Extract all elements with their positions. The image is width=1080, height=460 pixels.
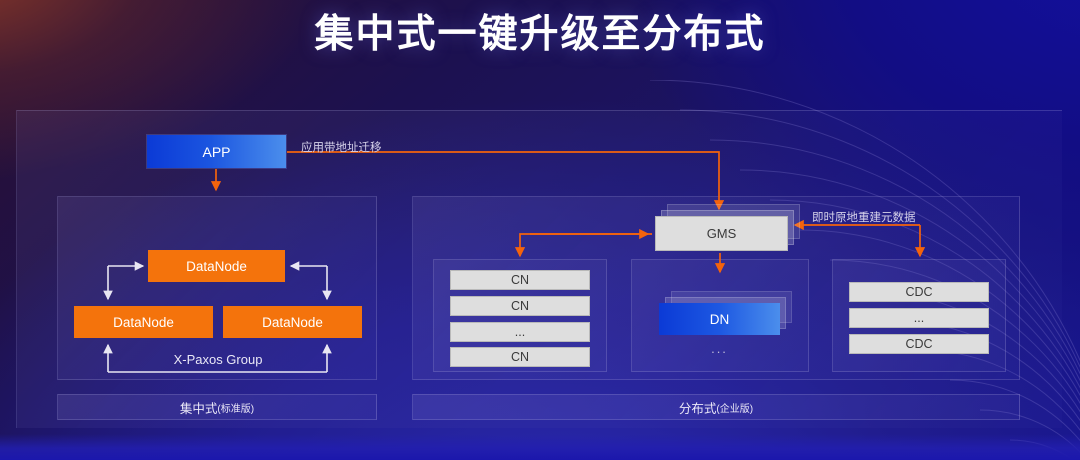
cn-box-1[interactable]: CN — [450, 270, 590, 290]
cdc-box-ellipsis: ... — [849, 308, 989, 328]
dn-box[interactable]: DN — [659, 303, 780, 335]
gms-box[interactable]: GMS — [655, 216, 788, 251]
datanode-follower-1[interactable]: DataNode — [74, 306, 213, 338]
datanode-leader[interactable]: DataNode — [148, 250, 285, 282]
dn-ellipsis: ... — [659, 341, 780, 356]
datanode-follower-2[interactable]: DataNode — [223, 306, 362, 338]
distributed-caption-sub: (企业版) — [716, 400, 753, 415]
cdc-box-2[interactable]: CDC — [849, 334, 989, 354]
centralized-caption-sub: (标准版) — [217, 400, 254, 415]
migration-label: 应用带地址迁移 — [301, 139, 382, 155]
app-box[interactable]: APP — [147, 135, 286, 168]
centralized-caption: 集中式 (标准版) — [57, 394, 377, 420]
distributed-caption: 分布式 (企业版) — [412, 394, 1020, 420]
cn-box-2[interactable]: CN — [450, 296, 590, 316]
cdc-box-1[interactable]: CDC — [849, 282, 989, 302]
centralized-caption-main: 集中式 — [180, 398, 218, 417]
distributed-caption-main: 分布式 — [679, 398, 717, 417]
x-paxos-group-label: X-Paxos Group — [74, 350, 362, 368]
cn-box-ellipsis: ... — [450, 322, 590, 342]
bottom-glow-band — [0, 434, 1080, 460]
cn-box-3[interactable]: CN — [450, 347, 590, 367]
page-title: 集中式一键升级至分布式 — [0, 8, 1080, 62]
rebuild-label: 即时原地重建元数据 — [812, 209, 916, 225]
slide-canvas: 集中式一键升级至分布式 APP — [0, 0, 1080, 460]
